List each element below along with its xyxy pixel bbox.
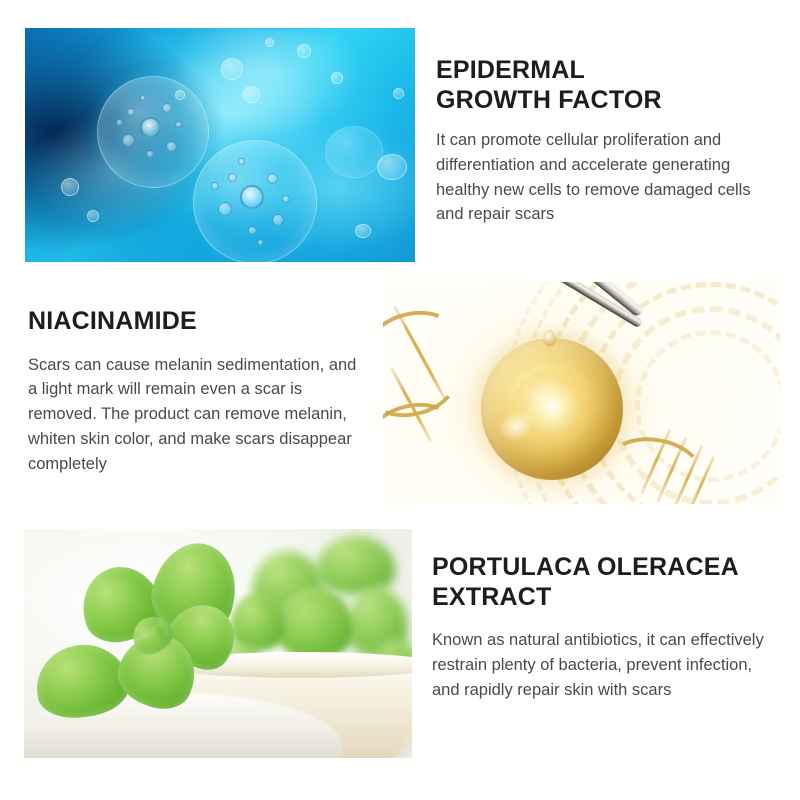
cell-vacuole [146, 150, 154, 158]
green-sprouts-bowl-photo [24, 529, 412, 758]
cell-vacuole [166, 141, 177, 152]
bubble-shape [393, 88, 404, 99]
infographic-page: EPIDERMAL GROWTH FACTOR It can promote c… [0, 0, 800, 800]
cell-vacuole [140, 95, 146, 101]
cell-vacuole [267, 173, 278, 184]
bubble-shape [87, 210, 99, 222]
bubble-shape [297, 44, 311, 58]
cell-shape [193, 140, 317, 262]
bubble-shape [175, 90, 185, 100]
block-title: PORTULACA OLERACEA EXTRACT [432, 553, 764, 612]
bubble-shape [377, 154, 407, 180]
cell-vacuole [228, 173, 237, 182]
bubble-shape [243, 86, 260, 103]
golden-dna-droplet-photo [383, 282, 780, 504]
cell-vacuole [127, 108, 135, 116]
cell-vacuole [272, 214, 284, 226]
text-block-portulaca-oleracea-extract: PORTULACA OLERACEA EXTRACT Known as natu… [432, 553, 764, 702]
cell-vacuole [218, 202, 232, 216]
block-title: NIACINAMIDE [28, 307, 362, 337]
blue-cells-photo [25, 28, 415, 262]
block-body: Scars can cause melanin sedimentation, a… [28, 353, 362, 477]
cell-vacuole [282, 195, 290, 203]
cell-shape [97, 76, 209, 188]
cell-vacuole [257, 239, 264, 246]
text-block-epidermal-growth-factor: EPIDERMAL GROWTH FACTOR It can promote c… [436, 56, 766, 227]
bubble-shape [265, 38, 274, 47]
block-body: Known as natural antibiotics, it can eff… [432, 628, 764, 702]
cell-vacuole [175, 121, 182, 128]
bubble-shape [61, 178, 79, 196]
block-body: It can promote cellular proliferation an… [436, 128, 766, 227]
bubble-shape [355, 224, 371, 238]
cell-vacuole [162, 103, 172, 113]
text-block-niacinamide: NIACINAMIDE Scars can cause melanin sedi… [28, 307, 362, 476]
cell-nucleus [240, 185, 264, 209]
dna-helix-icon [607, 438, 757, 504]
golden-serum-droplet [481, 338, 623, 480]
block-title: EPIDERMAL GROWTH FACTOR [436, 56, 766, 115]
bubble-shape [221, 58, 243, 80]
cell-vacuole [248, 226, 257, 235]
small-droplet [543, 330, 556, 346]
bubble-shape [331, 72, 343, 84]
cell-vacuole [211, 182, 219, 190]
cell-vacuole [238, 158, 245, 165]
cell-nucleus [140, 117, 161, 138]
cell-shape [325, 126, 383, 178]
cell-vacuole [122, 134, 135, 147]
cell-vacuole [116, 119, 123, 126]
